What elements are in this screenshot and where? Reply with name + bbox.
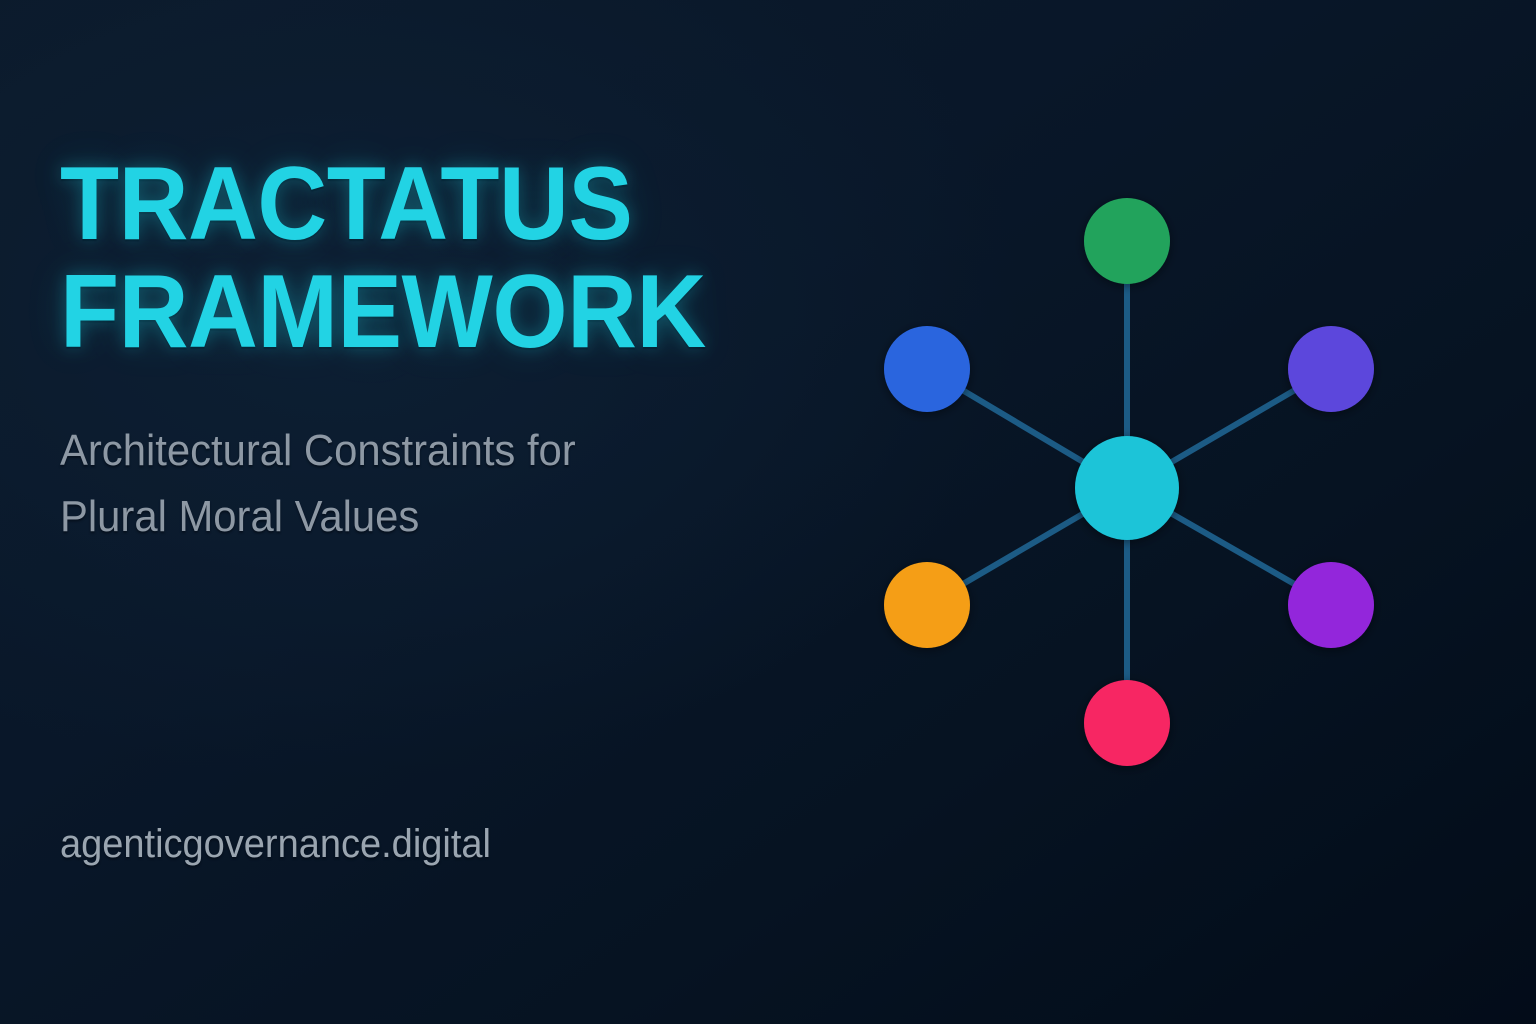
node-indigo[interactable]: [1288, 326, 1374, 412]
poster-canvas: TRACTATUS FRAMEWORK Architectural Constr…: [0, 0, 1536, 1024]
footer-url: agenticgovernance.digital: [60, 818, 491, 870]
hub-and-spoke-diagram: [845, 155, 1415, 825]
text-column: TRACTATUS FRAMEWORK Architectural Constr…: [60, 0, 840, 1024]
node-blue[interactable]: [884, 326, 970, 412]
page-subtitle: Architectural Constraints for Plural Mor…: [60, 418, 744, 550]
node-pink[interactable]: [1084, 680, 1170, 766]
page-title: TRACTATUS FRAMEWORK: [60, 150, 767, 366]
node-green[interactable]: [1084, 198, 1170, 284]
hub-node[interactable]: [1075, 436, 1179, 540]
node-violet[interactable]: [1288, 562, 1374, 648]
diagram-nodes: [884, 198, 1374, 766]
node-orange[interactable]: [884, 562, 970, 648]
